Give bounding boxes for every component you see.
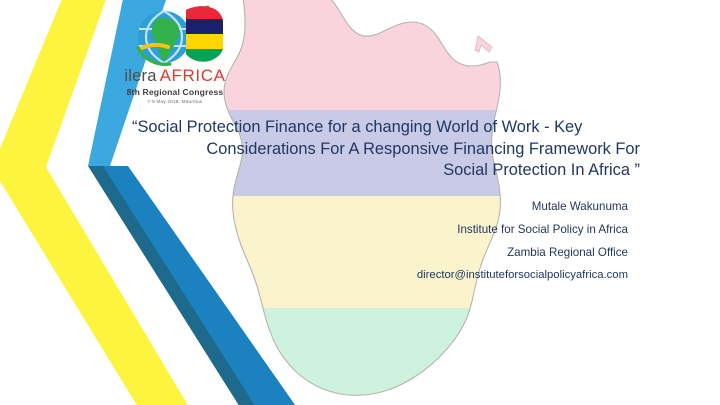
- logo-wordmark: ileraAFRICA: [112, 67, 238, 85]
- ilera-africa-logo: ileraAFRICA 8th Regional Congress 7-9 Ma…: [112, 4, 238, 108]
- slide-title: “Social Protection Finance for a changin…: [132, 117, 640, 182]
- logo-congress-text: 8th Regional Congress: [112, 87, 238, 97]
- logo-ilera-text: ilera: [124, 67, 156, 85]
- author-institute: Institute for Social Policy in Africa: [300, 219, 628, 242]
- title-line-3: Social Protection In Africa ”: [132, 160, 640, 182]
- ilera-africa-globe-icon: [112, 4, 238, 66]
- map-band-green: [0, 308, 720, 405]
- title-line-1: “Social Protection Finance for a changin…: [132, 117, 640, 139]
- presentation-slide: ileraAFRICA 8th Regional Congress 7-9 Ma…: [0, 0, 720, 405]
- title-line-2: Considerations For A Responsive Financin…: [132, 139, 640, 161]
- map-band-pink: [0, 0, 720, 110]
- author-details: Mutale Wakunuma Institute for Social Pol…: [300, 196, 628, 287]
- author-name: Mutale Wakunuma: [300, 196, 628, 219]
- author-email: director@instituteforsocialpolicyafrica.…: [300, 264, 628, 287]
- logo-africa-text: AFRICA: [160, 66, 226, 85]
- logo-date-location-text: 7-9 May 2018, Mauritius: [112, 99, 238, 104]
- author-office: Zambia Regional Office: [300, 242, 628, 265]
- map-island-detail: [475, 36, 492, 52]
